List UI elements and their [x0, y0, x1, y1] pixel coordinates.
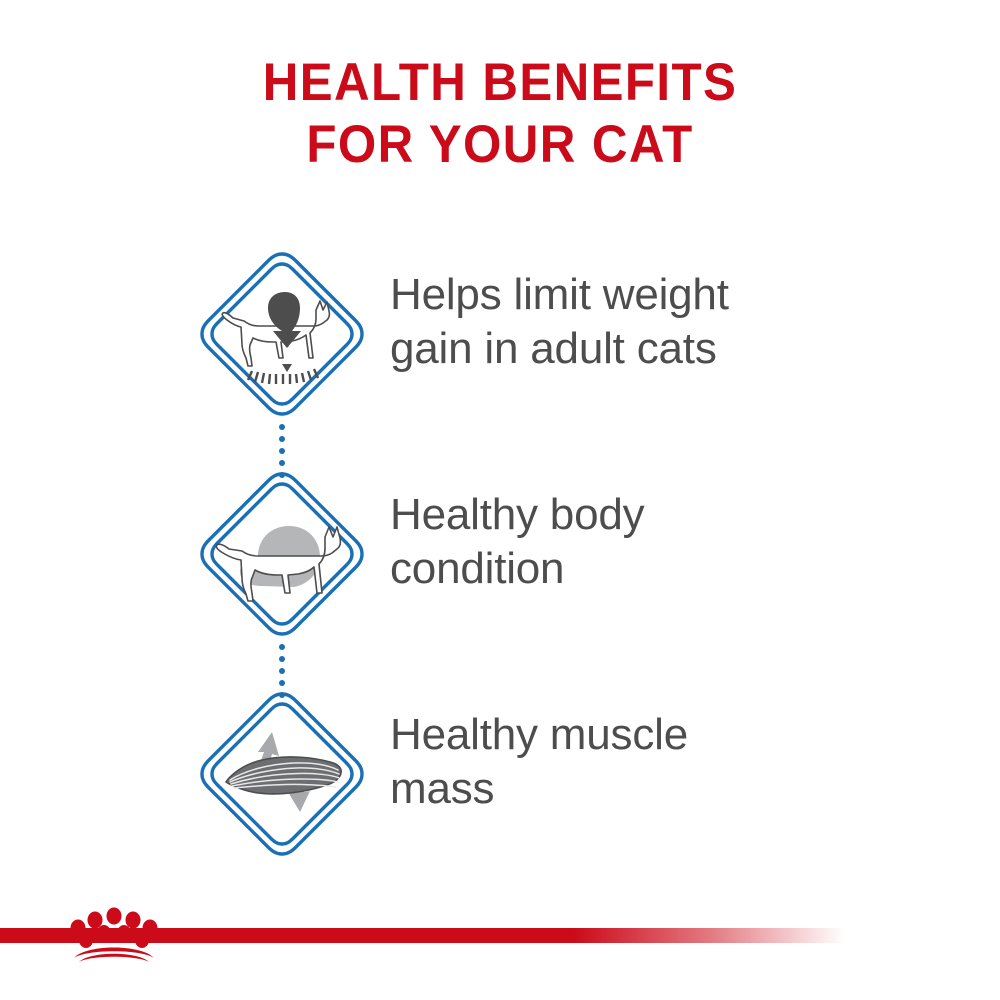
benefit-row: Healthy body condition	[196, 468, 916, 688]
title-line-1: HEALTH BENEFITS	[35, 52, 965, 114]
benefit-row: Helps limit weight gain in adult cats	[196, 248, 916, 468]
benefit-text-line-2: mass	[390, 762, 890, 816]
muscle-fiber-icon	[196, 688, 368, 860]
royal-canin-crown-logo	[62, 902, 168, 962]
cat-body-condition-icon	[196, 468, 368, 640]
benefit-text-line-2: condition	[390, 542, 890, 596]
benefit-text: Helps limit weight gain in adult cats	[390, 268, 890, 376]
benefit-text-line-1: Healthy body	[390, 488, 890, 542]
footer	[0, 902, 1000, 962]
benefit-text-line-1: Helps limit weight	[390, 268, 890, 322]
benefits-list: Helps limit weight gain in adult cats He…	[196, 248, 916, 908]
benefit-text: Healthy body condition	[390, 488, 890, 596]
title-line-2: FOR YOUR CAT	[35, 114, 965, 176]
dotted-connector	[276, 644, 288, 688]
benefit-row: Healthy muscle mass	[196, 688, 916, 908]
cat-on-scale-icon	[196, 248, 368, 420]
dotted-connector	[276, 424, 288, 468]
benefit-text-line-2: gain in adult cats	[390, 322, 890, 376]
page-title: HEALTH BENEFITS FOR YOUR CAT	[0, 52, 1000, 176]
benefit-text-line-1: Healthy muscle	[390, 708, 890, 762]
benefit-text: Healthy muscle mass	[390, 708, 890, 816]
